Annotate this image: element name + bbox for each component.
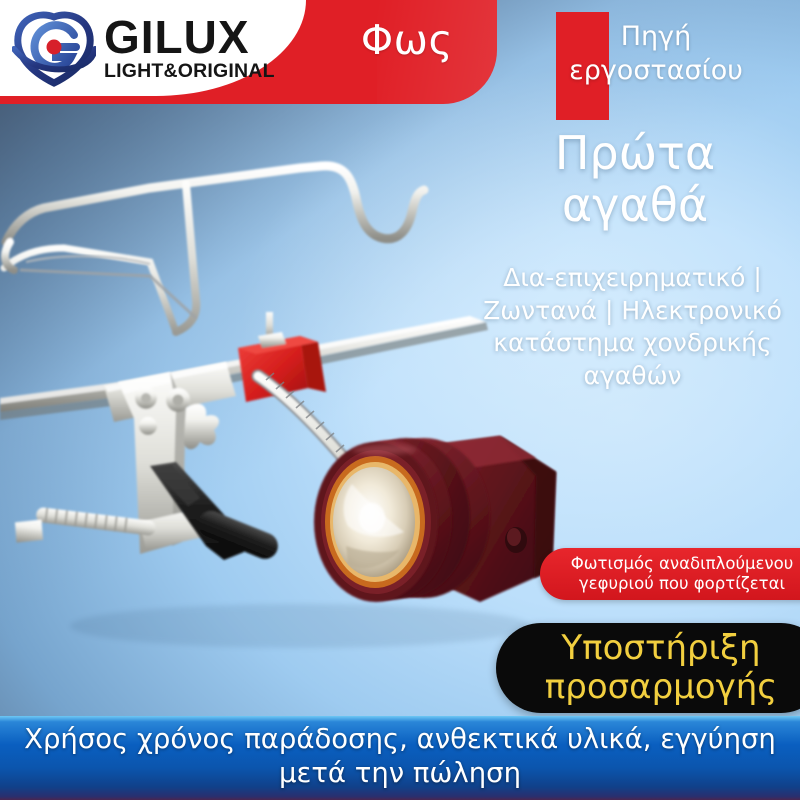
feature-pill-badge: Φωτισμός αναδιπλούμενου γεφυριού που φορ… <box>540 548 800 600</box>
feature-pill-text: Φωτισμός αναδιπλούμενου γεφυριού που φορ… <box>554 554 800 594</box>
support-badge-text: Υποστήριξη προσαρμογής <box>516 629 800 707</box>
page-subcopy: Δια-επιχειρηματικό | Ζωντανά | Ηλεκτρονι… <box>460 262 800 392</box>
support-badge: Υποστήριξη προσαρμογής <box>496 623 800 713</box>
header-banner-label: Φως <box>327 16 487 64</box>
footer-text: Χρήσος χρόνος παράδοσης, ανθεκτικά υλικά… <box>0 722 800 790</box>
gilux-swirl-logo-icon <box>12 9 96 87</box>
page-headline: Πρώτα αγαθά <box>470 128 800 231</box>
header-source-label: Πηγή εργοστασίου <box>517 20 795 88</box>
brand-tagline: LIGHT&ORIGINAL <box>104 62 275 82</box>
brand-logo: GILUX LIGHT&ORIGINAL <box>12 6 302 90</box>
promo-poster: GILUX LIGHT&ORIGINAL Φως Πηγή εργοστασίο… <box>0 0 800 800</box>
brand-name: GILUX <box>104 14 275 60</box>
